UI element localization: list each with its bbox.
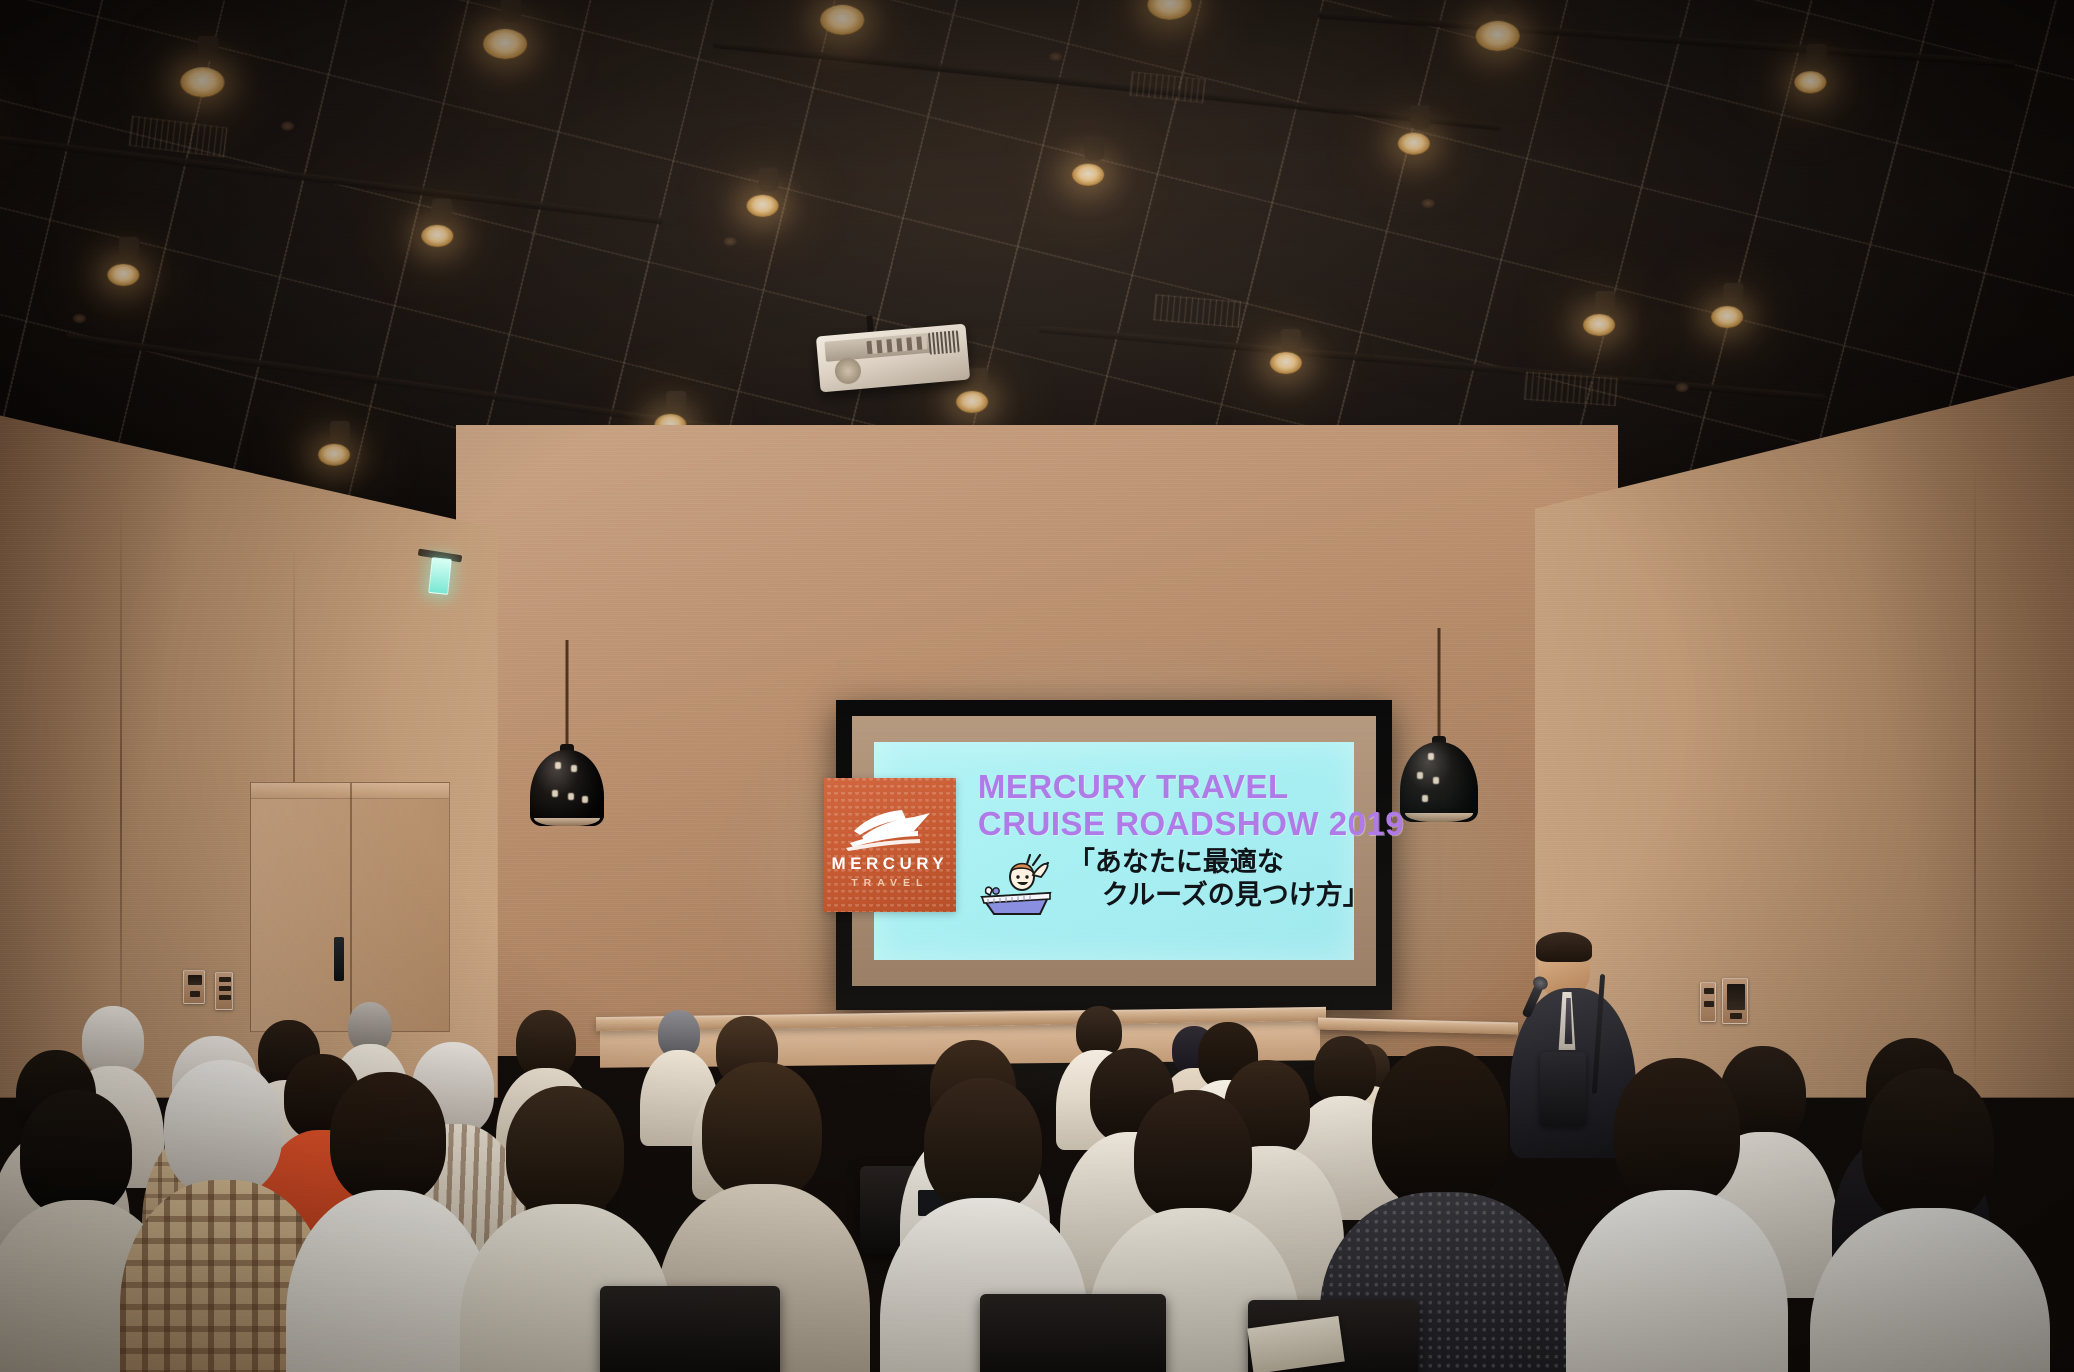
slide-subtitle-line-2: クルーズの見つけ方」 [1068, 880, 1370, 913]
light-switch-panel-right[interactable] [1700, 982, 1716, 1022]
head [1614, 1058, 1740, 1206]
head [506, 1086, 624, 1218]
presentation-slide: MERCURY TRAVEL MERCURY TRAVEL CRUISE ROA… [874, 742, 1354, 960]
head [702, 1062, 822, 1200]
chair-front-1[interactable] [600, 1286, 780, 1372]
head [1862, 1068, 1994, 1224]
panel-button[interactable] [190, 991, 200, 997]
audience-member-front-8 [1566, 1058, 1788, 1372]
slide-subtitle-row: 「あなたに最適な クルーズの見つけ方」 [978, 847, 1404, 921]
light-switch-panel-left[interactable] [215, 972, 233, 1010]
panel-display [188, 975, 202, 985]
pendant-reflection-d [568, 793, 574, 800]
switch-right-1[interactable] [1704, 988, 1714, 994]
logo-brand-name: MERCURY [831, 855, 948, 872]
logo-brand-subtitle: TRAVEL [851, 878, 928, 889]
mercury-travel-logo: MERCURY TRAVEL [824, 778, 956, 912]
double-door[interactable] [250, 782, 450, 1032]
panel-button-right[interactable] [1730, 1013, 1742, 1019]
pendant-reflection-a [555, 762, 561, 769]
pendant-shade-right [1400, 742, 1478, 822]
door-center-split [350, 783, 352, 1031]
projector-vent-grill [928, 330, 960, 355]
body [1810, 1208, 2050, 1372]
head [924, 1078, 1042, 1212]
right-wall-seam-1 [1974, 461, 1976, 1098]
switch-row-3[interactable] [219, 995, 231, 1000]
head [164, 1060, 282, 1196]
projection-screen: MERCURY TRAVEL MERCURY TRAVEL CRUISE ROA… [836, 700, 1392, 1010]
slide-title-line-2: CRUISE ROADSHOW 2019 [978, 806, 1404, 843]
pendant-cord-left [566, 640, 569, 748]
head [1372, 1046, 1508, 1208]
switch-row-1[interactable] [219, 977, 231, 982]
screen-mat: MERCURY TRAVEL MERCURY TRAVEL CRUISE ROA… [852, 716, 1376, 986]
chair-front-2[interactable] [980, 1294, 1166, 1372]
slide-title-line-1: MERCURY TRAVEL [978, 769, 1404, 806]
pendant-reflection-c [552, 790, 558, 797]
door-handle[interactable] [334, 937, 344, 981]
switch-right-2[interactable] [1704, 1001, 1714, 1007]
head [330, 1072, 446, 1204]
pendant-reflection-r-b [1417, 772, 1423, 779]
head [20, 1090, 132, 1216]
panel-display-right [1727, 984, 1745, 1010]
wall-control-panel-left[interactable] [183, 970, 205, 1004]
head [1134, 1090, 1252, 1222]
pendant-reflection-r-d [1422, 795, 1428, 802]
slide-text-column: MERCURY TRAVEL CRUISE ROADSHOW 2019 [978, 769, 1404, 921]
conference-room-photo: MERCURY TRAVEL MERCURY TRAVEL CRUISE ROA… [0, 0, 2074, 1372]
pendant-reflection-e [582, 796, 588, 803]
body [1566, 1190, 1788, 1372]
pendant-shade-left [530, 750, 604, 826]
pendant-reflection-r-c [1433, 777, 1439, 784]
exit-sign [428, 557, 452, 595]
presenter-hair [1536, 932, 1592, 962]
pendant-lamp-left [530, 640, 604, 820]
pendant-reflection-r-a [1428, 753, 1434, 760]
ship-wave-mark-icon [844, 801, 936, 851]
slide-subtitle-line-1: 「あなたに最適な [1068, 847, 1284, 878]
projector-lens [834, 357, 862, 385]
slide-subtitle-japanese: 「あなたに最適な クルーズの見つけ方」 [1068, 847, 1370, 913]
audience-member-front-9 [1810, 1068, 2050, 1372]
pendant-reflection-b [571, 765, 577, 772]
wall-control-panel-right[interactable] [1722, 978, 1748, 1024]
handheld-device [1540, 1052, 1586, 1126]
switch-row-2[interactable] [219, 986, 231, 991]
pendant-lamp-right [1400, 628, 1478, 814]
cruise-ship-illustration-icon [978, 851, 1062, 921]
pendant-cord-right [1438, 628, 1441, 740]
